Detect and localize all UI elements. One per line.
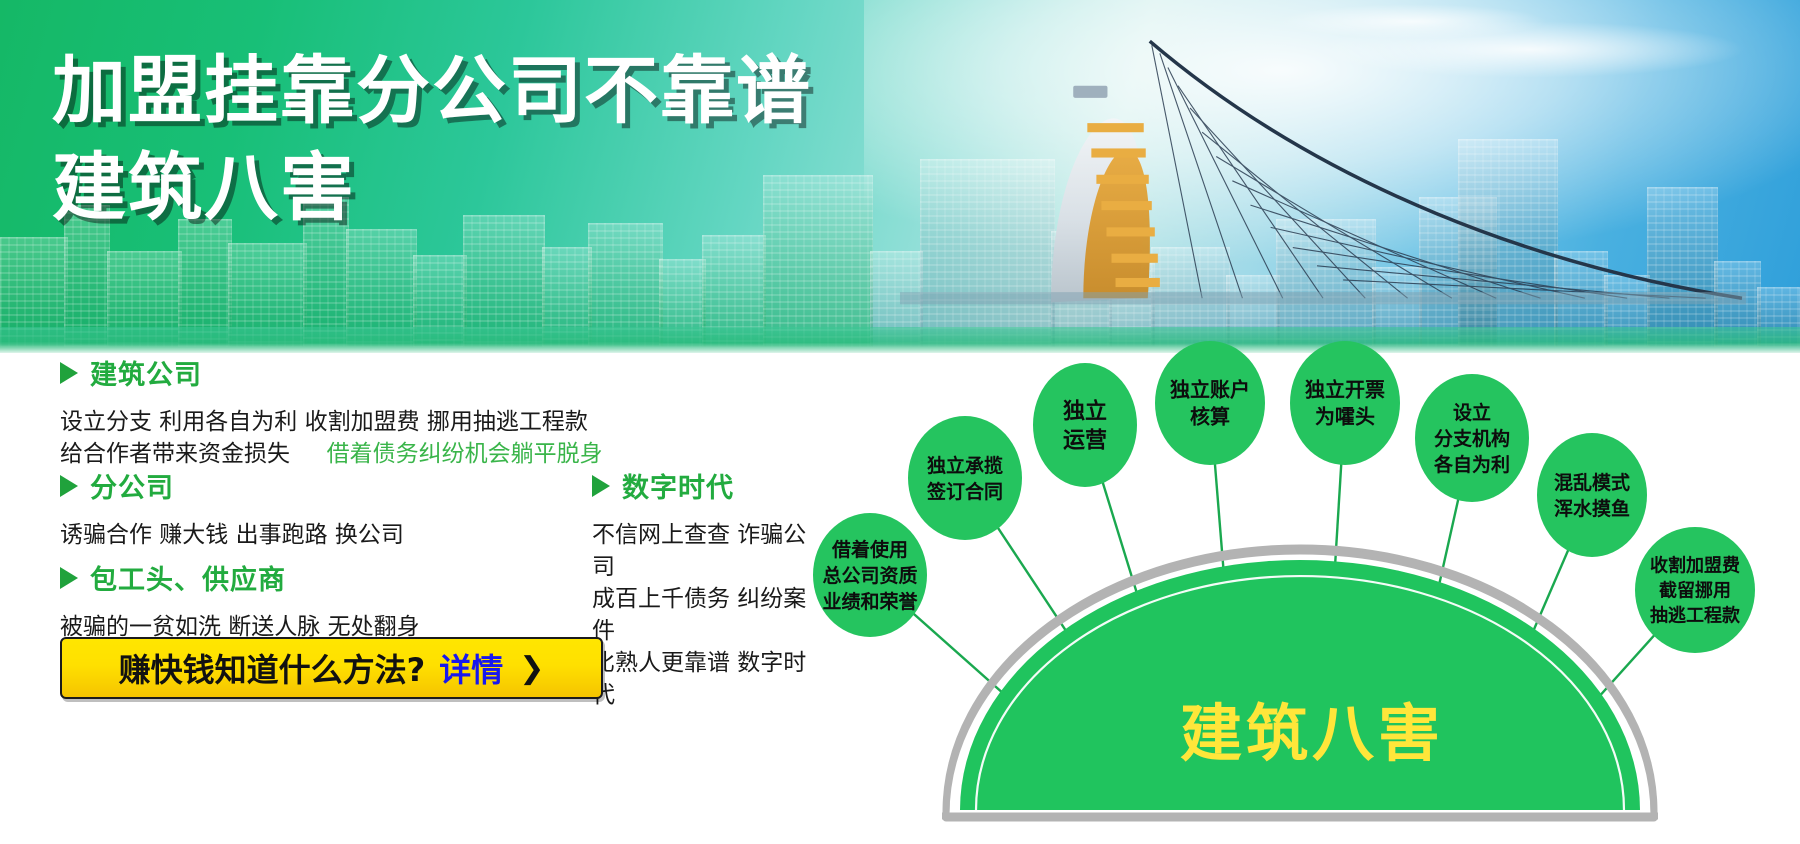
diagram-bubble[interactable]: 设立分支机构各自为利 bbox=[1415, 374, 1529, 502]
bubble-label-line: 截留挪用 bbox=[1659, 579, 1731, 601]
section-contractor-supplier: 包工头、供应商 被骗的一贫如洗 断送人脉 无处翻身 bbox=[60, 558, 420, 643]
bubble-shape bbox=[1155, 341, 1265, 465]
section-line-highlight: 借着债务纠纷机会躺平脱身 bbox=[327, 441, 603, 467]
bubble-label-line: 总公司资质 bbox=[822, 564, 917, 587]
diagram-bubble[interactable]: 借着使用总公司资质业绩和荣誉 bbox=[813, 513, 927, 637]
triangle-right-icon bbox=[60, 362, 78, 384]
bubble-label-line: 签订合同 bbox=[926, 480, 1003, 503]
bubble-label-line: 运营 bbox=[1063, 428, 1107, 453]
section-body: 诱骗合作 赚大钱 出事跑路 换公司 bbox=[60, 519, 404, 551]
bubble-label-line: 混乱模式 bbox=[1554, 471, 1630, 494]
hero-title-line-2: 建筑八害 bbox=[52, 142, 812, 234]
diagram-bubble[interactable]: 收割加盟费截留挪用抽逃工程款 bbox=[1635, 527, 1755, 653]
bridge-illustration bbox=[900, 27, 1746, 331]
dome-label: 建筑八害 bbox=[1180, 697, 1444, 770]
bubble-label-line: 收割加盟费 bbox=[1650, 554, 1740, 576]
bubble-shape bbox=[1033, 363, 1137, 487]
bubble-label-line: 独立开票 bbox=[1305, 378, 1385, 402]
diagram-bubble[interactable]: 独立承揽签订合同 bbox=[908, 416, 1022, 540]
bubble-label-line: 浑水摸鱼 bbox=[1554, 497, 1630, 520]
section-title: 包工头、供应商 bbox=[90, 558, 286, 597]
section-title: 分公司 bbox=[90, 466, 174, 505]
poster-root: 加盟挂靠分公司不靠谱 建筑八害 建筑公司 设立分支 利用各自为利 收割加盟费 挪… bbox=[0, 0, 1800, 844]
section-branch-company: 分公司 诱骗合作 赚大钱 出事跑路 换公司 bbox=[60, 466, 404, 551]
section-line: 成百上千债务 纠纷案件 bbox=[592, 583, 822, 647]
section-line-plain: 给合作者带来资金损失 bbox=[60, 441, 290, 467]
bubble-label-line: 独立 bbox=[1063, 398, 1107, 424]
triangle-right-icon bbox=[592, 475, 610, 497]
section-digital-era: 数字时代 不信网上查查 诈骗公司 成百上千债务 纠纷案件 比熟人更靠谱 数字时代 bbox=[592, 466, 822, 711]
hero-banner: 加盟挂靠分公司不靠谱 建筑八害 bbox=[0, 0, 1800, 353]
diagram-bubble[interactable]: 独立账户核算 bbox=[1155, 341, 1265, 465]
section-line: 比熟人更靠谱 数字时代 bbox=[592, 647, 822, 711]
chevron-right-icon: ❯ bbox=[519, 651, 544, 686]
section-header: 建筑公司 bbox=[60, 353, 603, 392]
triangle-right-icon bbox=[60, 475, 78, 497]
section-header: 包工头、供应商 bbox=[60, 558, 420, 597]
diagram-bubble[interactable]: 混乱模式浑水摸鱼 bbox=[1537, 433, 1647, 557]
section-line: 设立分支 利用各自为利 收割加盟费 挪用抽逃工程款 bbox=[60, 406, 603, 438]
bubble-label-line: 借着使用 bbox=[831, 538, 908, 561]
bubble-label-line: 分支机构 bbox=[1434, 427, 1510, 450]
bubble-shape bbox=[1290, 341, 1400, 465]
section-body: 设立分支 利用各自为利 收割加盟费 挪用抽逃工程款 给合作者带来资金损失 借着债… bbox=[60, 406, 603, 470]
section-title: 建筑公司 bbox=[90, 353, 202, 392]
hero-title-line-1: 加盟挂靠分公司不靠谱 bbox=[52, 48, 812, 134]
bubble-shape bbox=[908, 416, 1022, 540]
hero-title-group: 加盟挂靠分公司不靠谱 建筑八害 bbox=[52, 48, 812, 234]
eight-harms-diagram: 建筑八害借着使用总公司资质业绩和荣誉独立承揽签订合同独立运营独立账户核算独立开票… bbox=[800, 340, 1800, 844]
bubble-label-line: 独立承揽 bbox=[927, 454, 1003, 477]
triangle-right-icon bbox=[60, 567, 78, 589]
cta-label: 赚快钱知道什么方法? bbox=[119, 645, 426, 691]
cta-button[interactable]: 赚快钱知道什么方法? 详情 ❯ bbox=[60, 637, 603, 699]
bubble-label-line: 设立 bbox=[1453, 401, 1491, 424]
diagram-bubble[interactable]: 独立开票为嚯头 bbox=[1290, 341, 1400, 465]
bubble-label-line: 抽逃工程款 bbox=[1650, 604, 1741, 626]
section-title: 数字时代 bbox=[622, 466, 734, 505]
bubble-label-line: 业绩和荣誉 bbox=[822, 590, 918, 613]
cta-detail-link[interactable]: 详情 bbox=[439, 645, 503, 691]
diagram-canvas: 建筑八害借着使用总公司资质业绩和荣誉独立承揽签订合同独立运营独立账户核算独立开票… bbox=[800, 340, 1800, 844]
bubble-label-line: 为嚯头 bbox=[1315, 405, 1375, 429]
section-construction-company: 建筑公司 设立分支 利用各自为利 收割加盟费 挪用抽逃工程款 给合作者带来资金损… bbox=[60, 353, 603, 470]
section-body: 不信网上查查 诈骗公司 成百上千债务 纠纷案件 比熟人更靠谱 数字时代 bbox=[592, 519, 822, 711]
dome-shape bbox=[960, 560, 1640, 810]
section-header: 数字时代 bbox=[592, 466, 822, 505]
bubble-label-line: 各自为利 bbox=[1433, 453, 1510, 476]
bubble-label-line: 独立账户 bbox=[1170, 378, 1250, 402]
section-header: 分公司 bbox=[60, 466, 404, 505]
bubble-shape bbox=[1537, 433, 1647, 557]
section-line: 诱骗合作 赚大钱 出事跑路 换公司 bbox=[60, 519, 404, 551]
section-line: 不信网上查查 诈骗公司 bbox=[592, 519, 822, 583]
diagram-bubble[interactable]: 独立运营 bbox=[1033, 363, 1137, 487]
bubble-label-line: 核算 bbox=[1190, 405, 1230, 429]
content-area: 建筑公司 设立分支 利用各自为利 收割加盟费 挪用抽逃工程款 给合作者带来资金损… bbox=[0, 353, 830, 844]
